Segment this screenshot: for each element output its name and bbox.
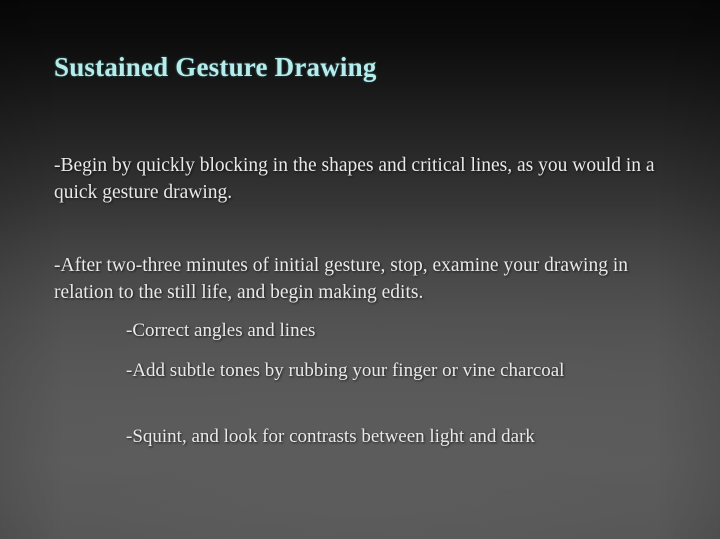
- bullet-item: -Add subtle tones by rubbing your finger…: [126, 358, 686, 384]
- slide-body: -Begin by quickly blocking in the shapes…: [0, 0, 720, 539]
- bullet-item: -Squint, and look for contrasts between …: [126, 424, 686, 450]
- presentation-slide: Sustained Gesture Drawing -Begin by quic…: [0, 0, 720, 539]
- bullet-item: -After two-three minutes of initial gest…: [54, 252, 666, 306]
- bullet-item: -Correct angles and lines: [126, 318, 686, 344]
- bullet-item: -Begin by quickly blocking in the shapes…: [54, 152, 666, 206]
